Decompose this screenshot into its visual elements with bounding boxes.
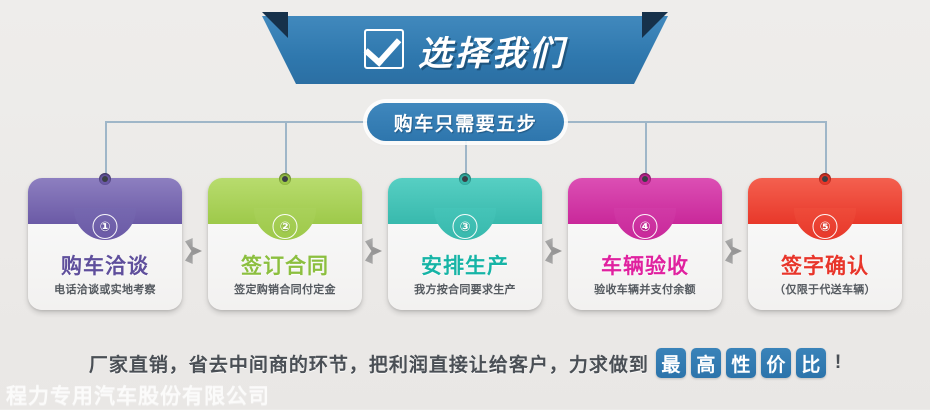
highlight-box-4: 价: [761, 348, 791, 378]
grommet-hole-icon-4: [639, 173, 651, 185]
header-title: 选择我们: [418, 26, 566, 75]
step-card-3[interactable]: ③ 安排生产 我方按合同要求生产: [388, 178, 542, 310]
step-card-5[interactable]: ⑤ 签字确认 （仅限于代送车辆）: [748, 178, 902, 310]
step-number-3: ③: [453, 214, 478, 239]
grommet-hole-icon-2: [279, 173, 291, 185]
checkbox-checked-icon: [364, 29, 404, 69]
arrow-separator-3-icon: [545, 238, 562, 264]
highlight-box-1: 最: [656, 348, 686, 378]
subheader-pill: 购车只需要五步: [367, 103, 564, 141]
step-title-4: 车辆验收: [568, 250, 722, 280]
step-card-4[interactable]: ④ 车辆验收 验收车辆并支付余额: [568, 178, 722, 310]
step-subtitle-4: 验收车辆并支付余额: [568, 281, 722, 297]
infographic-canvas: 程力专用汽车股份有限公司 选择我们 购车只需要五步 ① 购车洽谈 电话洽谈或实地…: [0, 0, 930, 409]
subheader-pill-label: 购车只需要五步: [394, 109, 538, 136]
step-title-5: 签字确认: [748, 250, 902, 280]
step-title-3: 安排生产: [388, 250, 542, 280]
highlight-box-2: 高: [691, 348, 721, 378]
step-number-2: ②: [273, 214, 298, 239]
footer-slogan: 厂家直销，省去中间商的环节，把利润直接让给客户，力求做到 最 高 性 价 比 !: [0, 348, 930, 378]
grommet-hole-icon-5: [819, 173, 831, 185]
slogan-exclamation: !: [835, 352, 841, 374]
highlight-box-3: 性: [726, 348, 756, 378]
step-number-5: ⑤: [813, 214, 838, 239]
grommet-hole-icon-3: [459, 173, 471, 185]
arrow-separator-1-icon: [185, 238, 202, 264]
ribbon-content: 选择我们: [262, 16, 668, 84]
step-title-1: 购车洽谈: [28, 250, 182, 280]
grommet-hole-icon-1: [99, 173, 111, 185]
step-title-2: 签订合同: [208, 250, 362, 280]
step-card-1[interactable]: ① 购车洽谈 电话洽谈或实地考察: [28, 178, 182, 310]
step-number-4: ④: [633, 214, 658, 239]
highlight-box-5: 比: [796, 348, 826, 378]
arrow-separator-2-icon: [365, 238, 382, 264]
step-number-1: ①: [93, 214, 118, 239]
slogan-text: 厂家直销，省去中间商的环节，把利润直接让给客户，力求做到: [89, 350, 649, 377]
highlight-boxes: 最 高 性 价 比: [656, 348, 826, 378]
step-subtitle-3: 我方按合同要求生产: [388, 281, 542, 297]
step-subtitle-1: 电话洽谈或实地考察: [28, 281, 182, 297]
header-ribbon: 选择我们: [262, 12, 668, 88]
company-watermark: 程力专用汽车股份有限公司: [6, 380, 270, 410]
step-subtitle-2: 签定购销合同付定金: [208, 281, 362, 297]
step-card-2[interactable]: ② 签订合同 签定购销合同付定金: [208, 178, 362, 310]
step-subtitle-5: （仅限于代送车辆）: [748, 281, 902, 297]
arrow-separator-4-icon: [725, 238, 742, 264]
